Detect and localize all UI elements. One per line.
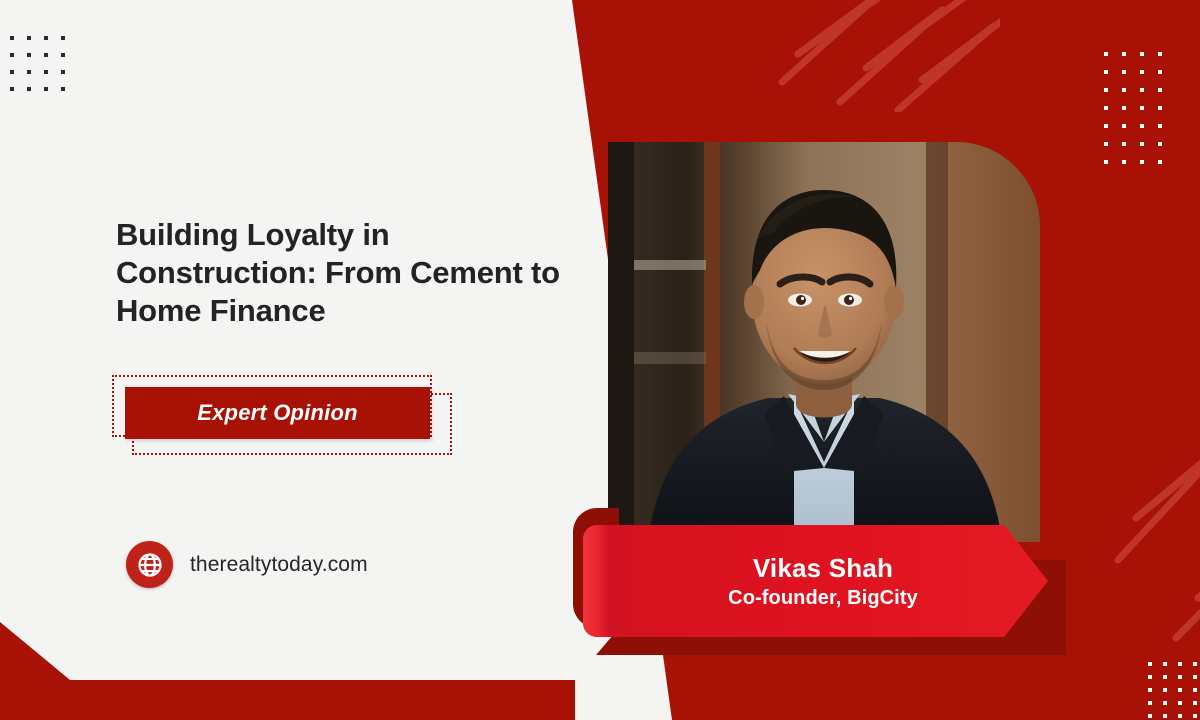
dot — [1158, 88, 1162, 92]
dot — [61, 36, 65, 40]
dot — [1140, 124, 1144, 128]
dot — [1104, 88, 1108, 92]
dot — [1158, 52, 1162, 56]
dot — [1140, 106, 1144, 110]
page-title: Building Loyalty in Construction: From C… — [116, 216, 586, 329]
dot — [1178, 714, 1182, 718]
dot — [44, 70, 48, 74]
dot — [1178, 675, 1182, 679]
dot — [1104, 52, 1108, 56]
dot — [1163, 714, 1167, 718]
dot — [1193, 688, 1197, 692]
dot — [1163, 688, 1167, 692]
dot — [1193, 714, 1197, 718]
dot — [61, 70, 65, 74]
dot — [10, 53, 14, 57]
dot — [1140, 52, 1144, 56]
speaker-name-ribbon: Vikas Shah Co-founder, BigCity — [583, 525, 1048, 637]
dot — [1122, 70, 1126, 74]
dot — [1104, 142, 1108, 146]
dot — [1148, 688, 1152, 692]
dot — [10, 70, 14, 74]
dot — [1148, 675, 1152, 679]
speaker-photo — [608, 142, 1040, 542]
dot-grid-right — [1104, 52, 1176, 178]
dot — [1104, 70, 1108, 74]
website-url-label: therealtytoday.com — [190, 553, 368, 577]
dot — [10, 36, 14, 40]
speaker-title: Co-founder, BigCity — [728, 587, 918, 610]
dot — [1158, 106, 1162, 110]
expert-opinion-badge-group: Expert Opinion — [112, 375, 452, 455]
ribbon-highlight — [583, 525, 609, 637]
dot — [1178, 688, 1182, 692]
dot — [44, 36, 48, 40]
dot — [1158, 70, 1162, 74]
speaker-name: Vikas Shah — [753, 553, 893, 584]
dot — [1122, 106, 1126, 110]
dot — [1193, 675, 1197, 679]
dot — [1122, 52, 1126, 56]
dot — [1193, 701, 1197, 705]
dot — [27, 36, 31, 40]
ribbon-text-group: Vikas Shah Co-founder, BigCity — [643, 525, 1003, 637]
dot-grid-bottom-right — [1148, 662, 1200, 720]
dot-grid-top-left — [10, 36, 78, 104]
dot — [1140, 160, 1144, 164]
status-badge: Expert Opinion — [125, 387, 430, 439]
dot — [10, 87, 14, 91]
dot — [1140, 142, 1144, 146]
dot — [44, 53, 48, 57]
dot — [1148, 714, 1152, 718]
dot — [1140, 88, 1144, 92]
dot — [1163, 675, 1167, 679]
dot — [1193, 662, 1197, 666]
dot — [1148, 701, 1152, 705]
dot — [1178, 662, 1182, 666]
dot — [1140, 70, 1144, 74]
dot — [1122, 88, 1126, 92]
dot — [61, 87, 65, 91]
website-row[interactable]: therealtytoday.com — [126, 541, 368, 588]
dot — [27, 87, 31, 91]
dot — [44, 87, 48, 91]
dot — [1122, 142, 1126, 146]
dot — [1104, 124, 1108, 128]
dot — [1148, 662, 1152, 666]
dot — [1104, 106, 1108, 110]
dot — [1178, 701, 1182, 705]
dot — [1163, 701, 1167, 705]
dot — [1122, 160, 1126, 164]
poster-canvas: Building Loyalty in Construction: From C… — [0, 0, 1200, 720]
dot — [27, 70, 31, 74]
dot — [1158, 160, 1162, 164]
dot — [61, 53, 65, 57]
dot — [1158, 124, 1162, 128]
dot — [1163, 662, 1167, 666]
globe-icon — [126, 541, 173, 588]
dot — [1104, 160, 1108, 164]
dot — [1158, 142, 1162, 146]
dot — [1122, 124, 1126, 128]
dot — [27, 53, 31, 57]
